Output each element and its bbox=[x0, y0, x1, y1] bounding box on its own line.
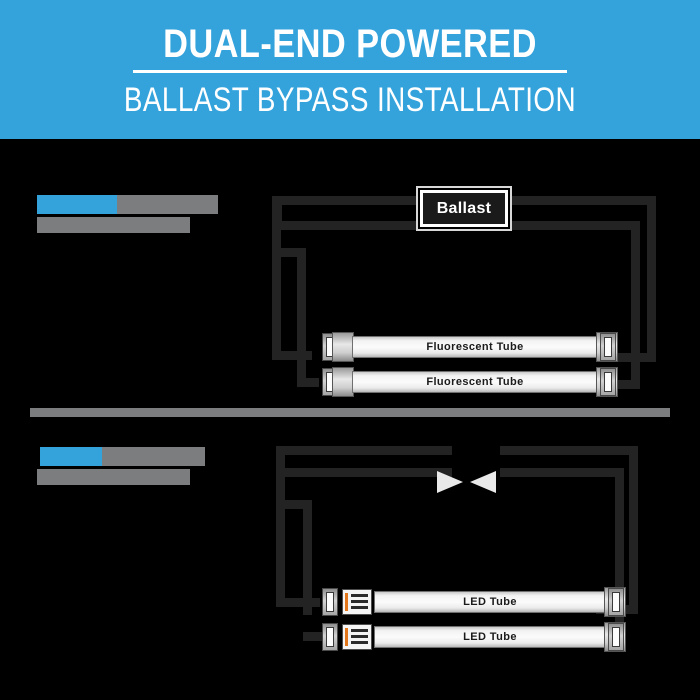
fluorescent-tube-bottom: Fluorescent Tube bbox=[310, 367, 620, 397]
led-tube-bottom: LED Tube bbox=[318, 622, 628, 652]
before-wire-top-bus-lower bbox=[282, 221, 424, 230]
after-heading-gray-block bbox=[102, 447, 205, 466]
header-banner: DUAL-END POWERED BALLAST BYPASS INSTALLA… bbox=[0, 0, 700, 139]
cut-wire-connector-right bbox=[470, 471, 496, 493]
section-divider bbox=[30, 408, 670, 417]
tube-endcap-left bbox=[332, 367, 354, 397]
page-subtitle: BALLAST BYPASS INSTALLATION bbox=[63, 80, 637, 120]
after-wire-right-bus-upper bbox=[500, 446, 638, 455]
tube-endcap-left bbox=[332, 332, 354, 362]
tube-pin-right bbox=[612, 627, 620, 647]
ballast-label: Ballast bbox=[423, 193, 505, 224]
cut-wire-connector-left bbox=[437, 471, 463, 493]
led-tube-top: LED Tube bbox=[318, 587, 628, 617]
after-wire-top-bus-lower bbox=[285, 468, 452, 477]
after-wire-right-bus-lower bbox=[500, 468, 624, 477]
tube-pin-left bbox=[326, 627, 334, 647]
after-wire-left-elbow bbox=[276, 500, 312, 509]
after-wire-right-vertical-outer bbox=[629, 446, 638, 614]
led-connector-wire-orange bbox=[345, 593, 348, 611]
led-connector-wire-orange bbox=[345, 628, 348, 646]
before-wire-right-from-ballast-lower bbox=[504, 221, 640, 230]
fluorescent-tube-top: Fluorescent Tube bbox=[310, 332, 620, 362]
ballast-box: Ballast bbox=[420, 190, 508, 227]
tube-label: Fluorescent Tube bbox=[352, 336, 598, 358]
infographic-root: DUAL-END POWERED BALLAST BYPASS INSTALLA… bbox=[0, 0, 700, 700]
after-wire-left-to-tube-top bbox=[276, 598, 320, 607]
after-wire-left-vertical-outer bbox=[276, 474, 285, 606]
before-heading-accent-block bbox=[37, 195, 117, 214]
led-connector-wire-dark-3 bbox=[351, 606, 368, 609]
led-connector-wire-dark-2 bbox=[351, 635, 368, 638]
led-connector-wire-dark-1 bbox=[351, 594, 368, 597]
before-heading-gray-block bbox=[117, 195, 218, 214]
before-wire-left-to-socket-top bbox=[272, 351, 312, 360]
led-connector-wire-dark-3 bbox=[351, 641, 368, 644]
after-heading-accent-block bbox=[40, 447, 102, 466]
tube-pin-right bbox=[604, 372, 612, 392]
tube-pin-right bbox=[604, 337, 612, 357]
led-connector-wire-dark-2 bbox=[351, 600, 368, 603]
tube-label: Fluorescent Tube bbox=[352, 371, 598, 393]
before-subtext-gray-block bbox=[37, 217, 190, 233]
before-wire-top-bus-upper bbox=[272, 196, 424, 205]
after-subtext-gray-block bbox=[37, 469, 190, 485]
tube-pin-right bbox=[612, 592, 620, 612]
title-divider-rule bbox=[133, 70, 567, 73]
led-connector-wire-dark-1 bbox=[351, 629, 368, 632]
after-wire-top-bus-upper bbox=[276, 446, 452, 455]
before-wire-right-vertical-outer bbox=[647, 196, 656, 362]
before-wire-right-from-ballast-upper bbox=[504, 196, 656, 205]
tube-label: LED Tube bbox=[374, 626, 606, 648]
before-wire-left-elbow-outer bbox=[272, 248, 306, 257]
page-title: DUAL-END POWERED bbox=[49, 22, 651, 66]
tube-label: LED Tube bbox=[374, 591, 606, 613]
tube-pin-left bbox=[326, 592, 334, 612]
